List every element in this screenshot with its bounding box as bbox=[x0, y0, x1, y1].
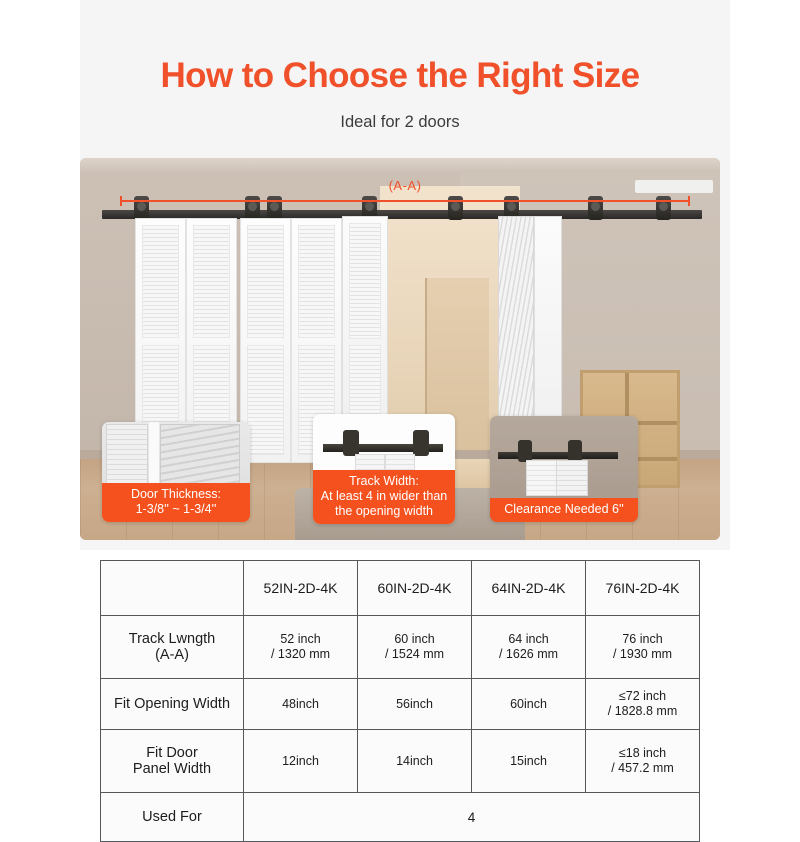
cell-line1: ≤72 inch bbox=[588, 689, 697, 704]
table-row: Fit Opening Width 48inch 56inch 60inch ≤… bbox=[101, 679, 700, 730]
louver-section bbox=[247, 345, 284, 455]
dimension-label-aa: (A-A) bbox=[120, 178, 690, 193]
louver-section bbox=[142, 225, 179, 338]
row-label: Fit Door Panel Width bbox=[101, 730, 244, 793]
ceiling bbox=[80, 158, 720, 172]
callout-caption: Track Width: At least 4 in wider than th… bbox=[313, 470, 455, 524]
callout-line1: Track Width: bbox=[315, 474, 453, 489]
table-corner-cell bbox=[101, 561, 244, 616]
row-label: Track Lwngth (A-A) bbox=[101, 616, 244, 679]
table-cell: 14inch bbox=[358, 730, 472, 793]
table-cell: ≤72 inch / 1828.8 mm bbox=[586, 679, 700, 730]
column-header-2: 64IN-2D-4K bbox=[472, 561, 586, 616]
callout-card-track-width: Track Width: At least 4 in wider than th… bbox=[313, 414, 455, 524]
cell-line2: / 1524 mm bbox=[360, 647, 469, 662]
cell-line1: 15inch bbox=[474, 754, 583, 769]
row-label-line1: Track Lwngth bbox=[103, 631, 241, 647]
hero-photo: (A-A) Door Thickness: 1-3/8'' ~ 1-3/4'' … bbox=[80, 158, 720, 540]
table-cell: 12inch bbox=[244, 730, 358, 793]
callout-line2: At least 4 in wider than bbox=[315, 489, 453, 504]
cell-line2: / 1828.8 mm bbox=[588, 704, 697, 719]
cell-line2: / 457.2 mm bbox=[588, 761, 697, 776]
dimension-arrow-aa: (A-A) bbox=[120, 200, 690, 202]
cell-line1: 64 inch bbox=[474, 632, 583, 647]
cell-line1: 56inch bbox=[360, 697, 469, 712]
cell-line1: 48inch bbox=[246, 697, 355, 712]
cell-line1: 60inch bbox=[474, 697, 583, 712]
cell-line2: / 1626 mm bbox=[474, 647, 583, 662]
table-cell: ≤18 inch / 457.2 mm bbox=[586, 730, 700, 793]
table-cell: 52 inch / 1320 mm bbox=[244, 616, 358, 679]
callout-caption: Clearance Needed 6'' bbox=[490, 498, 638, 522]
callout-caption: Door Thickness: 1-3/8'' ~ 1-3/4'' bbox=[102, 483, 250, 522]
louver-section bbox=[247, 225, 284, 338]
column-header-3: 76IN-2D-4K bbox=[586, 561, 700, 616]
column-header-0: 52IN-2D-4K bbox=[244, 561, 358, 616]
cell-line1: 76 inch bbox=[588, 632, 697, 647]
cell-line1: 14inch bbox=[360, 754, 469, 769]
callout-line1: Clearance Needed 6'' bbox=[492, 502, 636, 517]
callout-line3: the opening width bbox=[315, 504, 453, 519]
table-cell: 48inch bbox=[244, 679, 358, 730]
callout-card-clearance: Clearance Needed 6'' bbox=[490, 416, 638, 522]
row-label-line2: Panel Width bbox=[103, 761, 241, 777]
row-label-line1: Fit Door bbox=[103, 745, 241, 761]
table-cell: 15inch bbox=[472, 730, 586, 793]
louver-section bbox=[349, 223, 381, 339]
cell-line2: / 1930 mm bbox=[588, 647, 697, 662]
cell-line1: 60 inch bbox=[360, 632, 469, 647]
table-row: Track Lwngth (A-A) 52 inch / 1320 mm 60 … bbox=[101, 616, 700, 679]
louver-section bbox=[298, 225, 335, 338]
callout-line2: 1-3/8'' ~ 1-3/4'' bbox=[104, 502, 248, 517]
cell-line1: 52 inch bbox=[246, 632, 355, 647]
row-label-line1: Fit Opening Width bbox=[103, 696, 241, 712]
cell-line1: ≤18 inch bbox=[588, 746, 697, 761]
callout-line1: Door Thickness: bbox=[104, 487, 248, 502]
table-row: Fit Door Panel Width 12inch 14inch 15inc… bbox=[101, 730, 700, 793]
header: How to Choose the Right Size Ideal for 2… bbox=[0, 0, 800, 155]
louver-section bbox=[193, 225, 230, 338]
page-title: How to Choose the Right Size bbox=[160, 58, 639, 93]
page-subtitle: Ideal for 2 doors bbox=[340, 113, 459, 132]
row-label: Fit Opening Width bbox=[101, 679, 244, 730]
table-cell: 76 inch / 1930 mm bbox=[586, 616, 700, 679]
table-cell: 60 inch / 1524 mm bbox=[358, 616, 472, 679]
table-cell: 64 inch / 1626 mm bbox=[472, 616, 586, 679]
cell-line2: / 1320 mm bbox=[246, 647, 355, 662]
table-header-row: 52IN-2D-4K 60IN-2D-4K 64IN-2D-4K 76IN-2D… bbox=[101, 561, 700, 616]
callout-card-door-thickness: Door Thickness: 1-3/8'' ~ 1-3/4'' bbox=[102, 422, 250, 522]
table-cell: 60inch bbox=[472, 679, 586, 730]
cell-line1: 12inch bbox=[246, 754, 355, 769]
table-cell: 56inch bbox=[358, 679, 472, 730]
column-header-1: 60IN-2D-4K bbox=[358, 561, 472, 616]
row-label-line2: (A-A) bbox=[103, 647, 241, 663]
